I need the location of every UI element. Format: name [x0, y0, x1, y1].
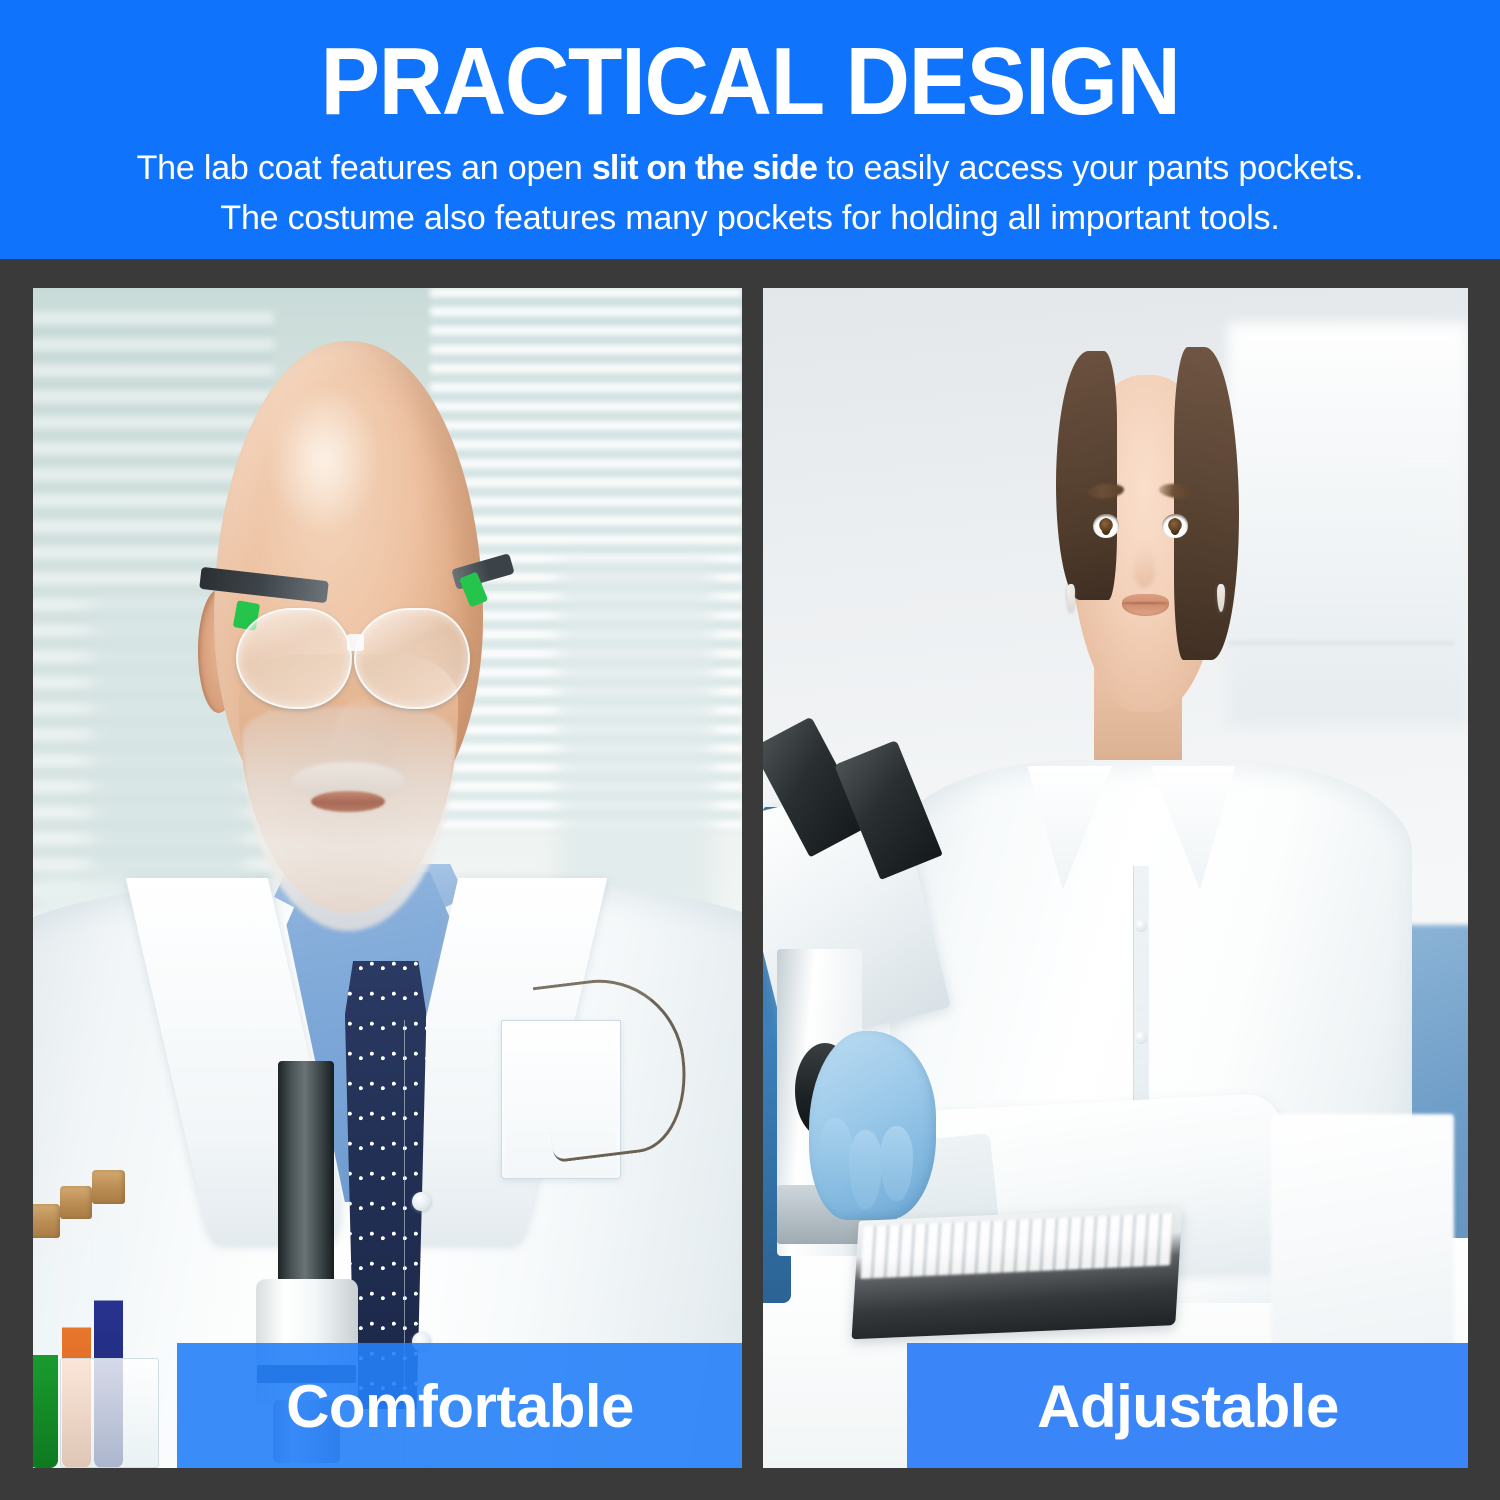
pupil-right [1170, 518, 1180, 534]
head-highlight [267, 382, 380, 535]
mouth [311, 791, 385, 812]
subtitle-text-before-bold: The lab coat features an open [137, 149, 592, 187]
subtitle-line-2: The costume also features many pockets f… [0, 193, 1500, 243]
hair-strand-right [1174, 347, 1239, 660]
cork-stopper [60, 1186, 92, 1220]
goggles-bridge [347, 634, 364, 652]
lab-coat-button [412, 1192, 430, 1211]
product-image-left: Comfortable [33, 288, 742, 1468]
cork-stopper [33, 1204, 60, 1238]
subtitle-highlight: slit on the side [592, 149, 817, 187]
glove-finger [880, 1126, 913, 1202]
paper-stack [1271, 1114, 1454, 1350]
caption-bar-adjustable: Adjustable [907, 1343, 1468, 1468]
test-tube-rack [33, 1161, 196, 1468]
glove-finger [849, 1130, 882, 1209]
blue-nitrile-glove [809, 1031, 936, 1220]
subtitle-text-after-bold: to easily access your pants pockets. [817, 149, 1363, 187]
pearl-earring-left [1067, 584, 1075, 612]
subtitle-line-1: The lab coat features an open slit on th… [0, 143, 1500, 193]
test-tube [33, 1259, 58, 1468]
product-image-right: Adjustable [763, 288, 1468, 1468]
header-subtitle: The lab coat features an open slit on th… [0, 143, 1500, 243]
page-title: PRACTICAL DESIGN [53, 34, 1448, 130]
rack-stand [60, 1358, 159, 1468]
lip-line [1123, 602, 1167, 603]
microscope-eyepiece-tube [278, 1061, 335, 1297]
head [1052, 335, 1242, 736]
safety-goggles-lens-right [354, 608, 470, 709]
hair-strand-left [1056, 351, 1117, 600]
glove-finger [819, 1118, 852, 1194]
caption-label-comfortable: Comfortable [286, 1372, 634, 1441]
caption-label-adjustable: Adjustable [1037, 1372, 1339, 1441]
caption-bar-comfortable: Comfortable [177, 1343, 742, 1468]
wall-seam [1228, 642, 1454, 644]
header-banner: PRACTICAL DESIGN The lab coat features a… [0, 0, 1500, 259]
safety-goggles-lens-left [236, 608, 352, 709]
pupil-left [1101, 518, 1111, 534]
cork-stopper [92, 1170, 124, 1204]
